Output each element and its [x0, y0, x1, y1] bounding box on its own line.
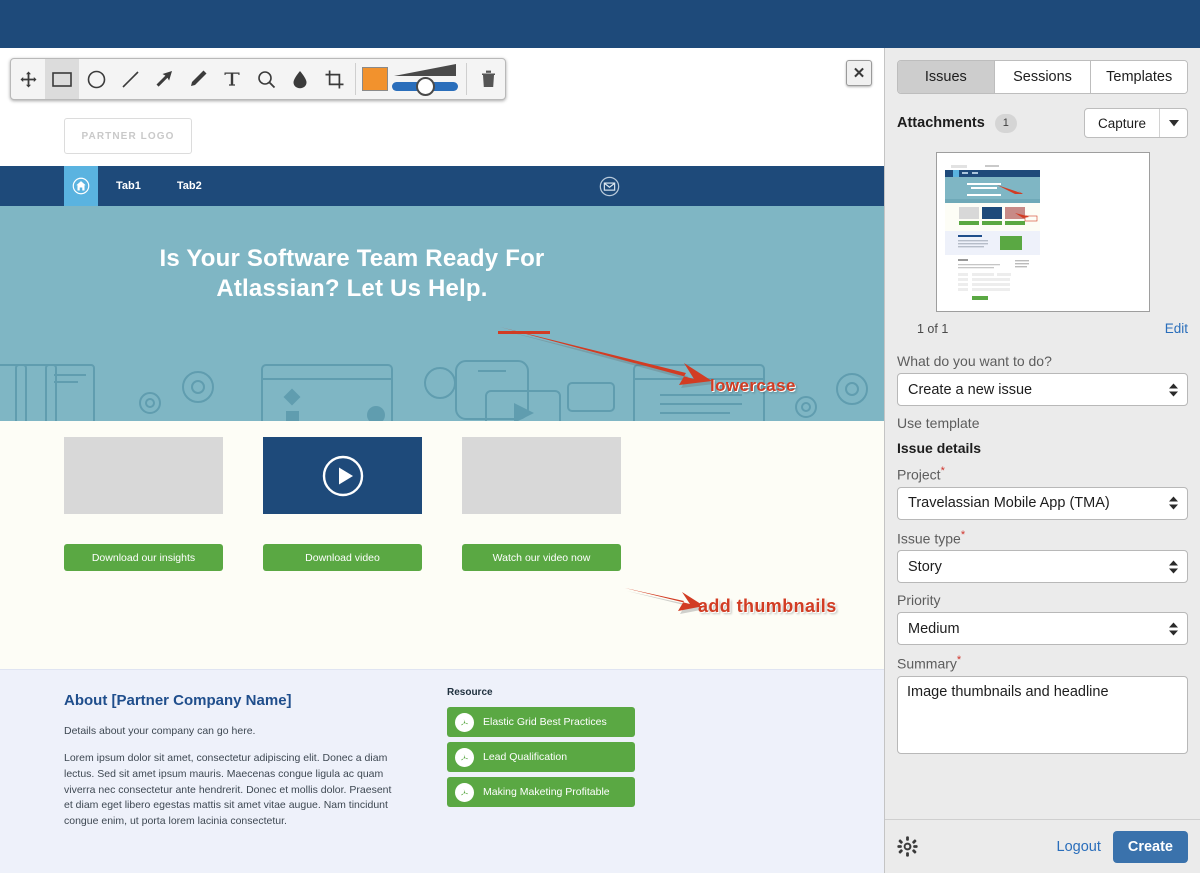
use-template-label[interactable]: Use template [897, 415, 1188, 431]
rectangle-tool[interactable] [45, 59, 79, 99]
ellipse-icon [87, 70, 106, 89]
resource-item-1[interactable]: Elastic Grid Best Practices [447, 707, 635, 737]
attachments-count-badge: 1 [995, 114, 1017, 133]
summary-label-text: Summary [897, 656, 957, 672]
action-select[interactable]: Create a new issue [897, 373, 1188, 406]
resource-item-label: Lead Qualification [483, 751, 567, 763]
capture-button[interactable]: Capture [1085, 109, 1159, 137]
panel-footer: Logout Create [885, 819, 1200, 873]
project-label-text: Project [897, 467, 941, 483]
pdf-icon [455, 713, 474, 732]
pencil-tool[interactable] [181, 59, 215, 99]
stroke-width-wedge-icon [394, 64, 456, 77]
annotation-toolbar [10, 58, 506, 100]
pdf-icon [455, 748, 474, 767]
play-icon [321, 454, 365, 498]
annotation-label-2[interactable]: add thumbnails [698, 596, 837, 617]
content-band: Download our insights Download video [0, 421, 884, 669]
select-stepper-icon [1169, 622, 1178, 635]
action-field-label: What do you want to do? [897, 353, 1188, 369]
issue-type-field-label: Issue type* [897, 529, 1188, 547]
envelope-icon [599, 176, 620, 197]
thumbnail-image-placeholder-1[interactable] [64, 437, 223, 514]
delete-tool[interactable] [471, 59, 505, 99]
move-tool[interactable] [11, 59, 45, 99]
action-select-value: Create a new issue [908, 382, 1032, 398]
video-thumbnail[interactable] [263, 437, 422, 514]
captured-page-screenshot: PARTNER LOGO Tab1 Tab2 [0, 106, 884, 873]
line-tool[interactable] [113, 59, 147, 99]
stroke-color-swatch[interactable] [362, 67, 388, 91]
site-nav-tab-1[interactable]: Tab1 [98, 166, 159, 206]
nav-home-button[interactable] [64, 166, 98, 206]
summary-textarea[interactable]: Image thumbnails and headline [897, 676, 1188, 754]
slider-knob[interactable] [416, 77, 435, 96]
annotation-underline[interactable] [498, 331, 550, 334]
tab-templates[interactable]: Templates [1091, 61, 1187, 93]
issue-type-select-value: Story [908, 559, 942, 575]
site-nav-tab-2[interactable]: Tab2 [159, 166, 220, 206]
attachment-meta-row: 1 of 1 Edit [897, 321, 1188, 336]
project-field-label: Project* [897, 465, 1188, 483]
toolbar-divider-2 [466, 63, 467, 95]
annotation-canvas[interactable]: ✕ PARTNER LOGO Tab1 Tab2 [0, 48, 884, 873]
attachment-thumbnail[interactable] [936, 152, 1150, 312]
text-tool[interactable] [215, 59, 249, 99]
blur-tool[interactable] [283, 59, 317, 99]
thumbnail-card-3: Watch our video now [462, 437, 621, 571]
mini-page-render [945, 163, 1040, 303]
magnify-tool[interactable] [249, 59, 283, 99]
required-marker: * [941, 465, 945, 477]
home-icon [72, 177, 90, 195]
cta-button-2[interactable]: Download video [263, 544, 422, 571]
cta-button-3[interactable]: Watch our video now [462, 544, 621, 571]
crop-icon [325, 70, 344, 89]
create-button[interactable]: Create [1113, 831, 1188, 863]
resource-list: Resource Elastic Grid Best Practices [447, 687, 635, 812]
partner-logo-bar: PARTNER LOGO [0, 106, 884, 166]
logout-link[interactable]: Logout [1057, 839, 1101, 855]
about-body-text: Lorem ipsum dolor sit amet, consectetur … [64, 751, 394, 830]
thumbnail-row: Download our insights Download video [64, 437, 621, 571]
resource-item-2[interactable]: Lead Qualification [447, 742, 635, 772]
chevron-down-icon[interactable] [1159, 109, 1187, 137]
partner-logo-placeholder: PARTNER LOGO [64, 118, 192, 154]
annotation-label-1[interactable]: lowercase [710, 376, 796, 396]
cta-button-1[interactable]: Download our insights [64, 544, 223, 571]
arrow-tool[interactable] [147, 59, 181, 99]
nav-mail-button[interactable] [598, 175, 620, 197]
tab-issues[interactable]: Issues [898, 61, 995, 93]
required-marker: * [957, 654, 961, 666]
pdf-icon [455, 783, 474, 802]
thumbnail-card-1: Download our insights [64, 437, 223, 571]
attachment-mini-preview [945, 163, 1040, 303]
issue-details-heading: Issue details [897, 440, 1188, 456]
issue-form: What do you want to do? Create a new iss… [885, 336, 1200, 819]
gear-icon[interactable] [897, 836, 918, 857]
text-icon [223, 70, 241, 88]
attachments-label: Attachments [897, 115, 985, 131]
magnifier-icon [257, 70, 276, 89]
toolbar-divider [355, 63, 356, 95]
stroke-width-slider[interactable] [392, 62, 458, 96]
priority-select[interactable]: Medium [897, 612, 1188, 645]
trash-icon [481, 70, 496, 88]
select-stepper-icon [1169, 497, 1178, 510]
attachment-index-label: 1 of 1 [917, 322, 948, 336]
priority-select-value: Medium [908, 621, 960, 637]
tab-sessions[interactable]: Sessions [995, 61, 1092, 93]
about-section: About [Partner Company Name] Details abo… [0, 669, 884, 873]
resource-item-label: Making Maketing Profitable [483, 786, 610, 798]
attachment-edit-link[interactable]: Edit [1165, 321, 1188, 336]
resource-list-title: Resource [447, 687, 635, 698]
rectangle-icon [52, 72, 72, 87]
project-select-value: Travelassian Mobile App (TMA) [908, 495, 1110, 511]
select-stepper-icon [1169, 383, 1178, 396]
ellipse-tool[interactable] [79, 59, 113, 99]
resource-item-3[interactable]: Making Maketing Profitable [447, 777, 635, 807]
capture-button-group: Capture [1084, 108, 1188, 138]
thumbnail-card-2: Download video [263, 437, 422, 571]
capture-window: ✕ PARTNER LOGO Tab1 Tab2 [0, 0, 1200, 873]
attachments-header: Attachments 1 Capture [897, 108, 1188, 138]
site-navigation-bar: Tab1 Tab2 [0, 166, 884, 206]
resource-item-label: Elastic Grid Best Practices [483, 716, 607, 728]
summary-field-label: Summary* [897, 654, 1188, 672]
select-stepper-icon [1169, 560, 1178, 573]
panel-tab-bar: Issues Sessions Templates [897, 60, 1188, 94]
project-select[interactable]: Travelassian Mobile App (TMA) [897, 487, 1188, 520]
issue-type-label-text: Issue type [897, 530, 961, 546]
move-icon [20, 71, 37, 88]
line-icon [121, 70, 140, 89]
crop-tool[interactable] [317, 59, 351, 99]
droplet-icon [292, 70, 308, 89]
priority-field-label: Priority [897, 592, 1188, 608]
close-button[interactable]: ✕ [846, 60, 872, 86]
thumbnail-image-placeholder-3[interactable] [462, 437, 621, 514]
pencil-icon [188, 69, 208, 89]
capture-side-panel: Issues Sessions Templates Attachments 1 … [884, 48, 1200, 873]
arrow-icon [154, 69, 174, 89]
required-marker: * [961, 529, 965, 541]
hero-headline: Is Your Software Team Ready For Atlassia… [0, 244, 884, 305]
issue-type-select[interactable]: Story [897, 550, 1188, 583]
